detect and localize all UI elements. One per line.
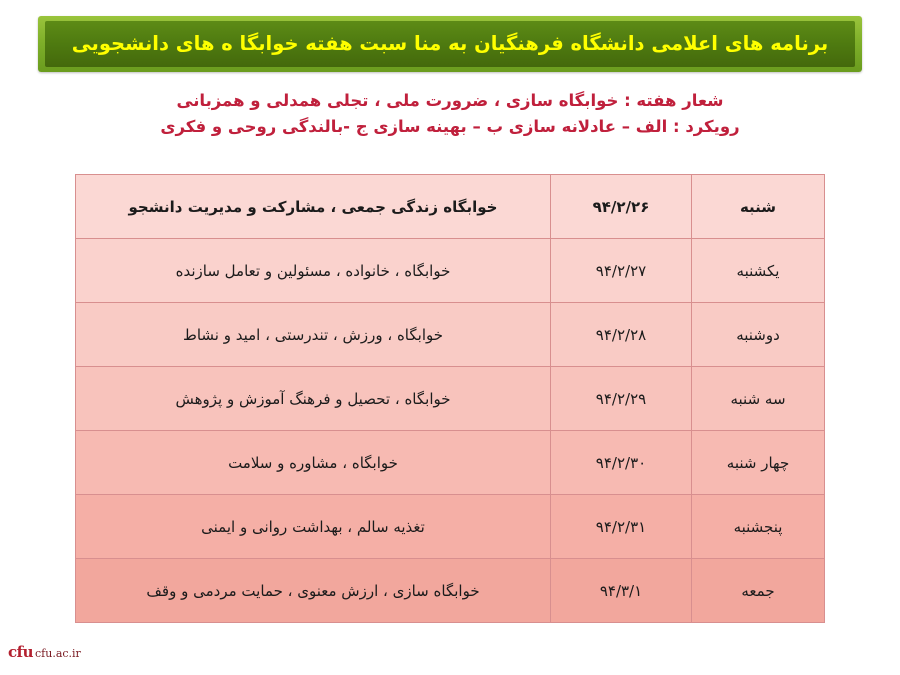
cell-date: ۹۴/۲/۳۰ [551,431,692,495]
cell-date: ۹۴/۲/۲۹ [551,367,692,431]
table-row: دوشنبه ۹۴/۲/۲۸ خوابگاه ، ورزش ، تندرستی … [76,303,825,367]
cell-day: چهار شنبه [692,431,825,495]
schedule-table-wrapper: شنبه ۹۴/۲/۲۶ خوابگاه زندگی جمعی ، مشارکت… [75,174,825,623]
table-row: شنبه ۹۴/۲/۲۶ خوابگاه زندگی جمعی ، مشارکت… [76,175,825,239]
cell-date: ۹۴/۲/۲۶ [551,175,692,239]
cell-day: سه شنبه [692,367,825,431]
table-row: يكشنبه ۹۴/۲/۲۷ خوابگاه ، خانواده ، مسئول… [76,239,825,303]
cell-day: شنبه [692,175,825,239]
table-row: جمعه ۹۴/۳/۱ خوابگاه سازی ، ارزش معنوی ، … [76,559,825,623]
banner-title-text: برنامه های اعلامی دانشگاه فرهنگیان به من… [72,32,828,57]
cell-day: يكشنبه [692,239,825,303]
cell-topic: خوابگاه ، تحصیل و فرهنگ آموزش و پژوهش [76,367,551,431]
cell-topic: خوابگاه زندگی جمعی ، مشارکت و مدیریت دان… [76,175,551,239]
cell-topic: خوابگاه ، مشاوره و سلامت [76,431,551,495]
table-row: چهار شنبه ۹۴/۲/۳۰ خوابگاه ، مشاوره و سلا… [76,431,825,495]
cell-topic: تغذیه سالم ، بهداشت روانی و ایمنی [76,495,551,559]
subtitle-slogan: شعار هفته : خوابگاه سازی ، ضرورت ملی ، ت… [0,88,900,114]
cell-topic: خوابگاه ، خانواده ، مسئولین و تعامل سازن… [76,239,551,303]
cell-topic: خوابگاه سازی ، ارزش معنوی ، حمایت مردمی … [76,559,551,623]
cell-day: پنجشنبه [692,495,825,559]
footer-url: cfu.ac.ir [35,647,81,660]
footer-branding: cfu cfu.ac.ir [8,643,81,661]
subtitle-approach: رویکرد : الف – عادلانه سازی ب – بهینه سا… [0,114,900,140]
cell-date: ۹۴/۲/۳۱ [551,495,692,559]
schedule-table: شنبه ۹۴/۲/۲۶ خوابگاه زندگی جمعی ، مشارکت… [75,174,825,623]
cfu-logo: cfu [8,643,33,661]
title-banner: برنامه های اعلامی دانشگاه فرهنگیان به من… [38,16,862,72]
table-row: پنجشنبه ۹۴/۲/۳۱ تغذیه سالم ، بهداشت روان… [76,495,825,559]
banner-outer-frame: برنامه های اعلامی دانشگاه فرهنگیان به من… [38,16,862,72]
cell-date: ۹۴/۲/۲۸ [551,303,692,367]
subtitle-block: شعار هفته : خوابگاه سازی ، ضرورت ملی ، ت… [0,88,900,139]
cell-day: جمعه [692,559,825,623]
table-row: سه شنبه ۹۴/۲/۲۹ خوابگاه ، تحصیل و فرهنگ … [76,367,825,431]
banner-inner-frame: برنامه های اعلامی دانشگاه فرهنگیان به من… [45,21,855,67]
schedule-table-body: شنبه ۹۴/۲/۲۶ خوابگاه زندگی جمعی ، مشارکت… [76,175,825,623]
cell-date: ۹۴/۲/۲۷ [551,239,692,303]
cell-topic: خوابگاه ، ورزش ، تندرستی ، امید و نشاط [76,303,551,367]
cell-date: ۹۴/۳/۱ [551,559,692,623]
cell-day: دوشنبه [692,303,825,367]
